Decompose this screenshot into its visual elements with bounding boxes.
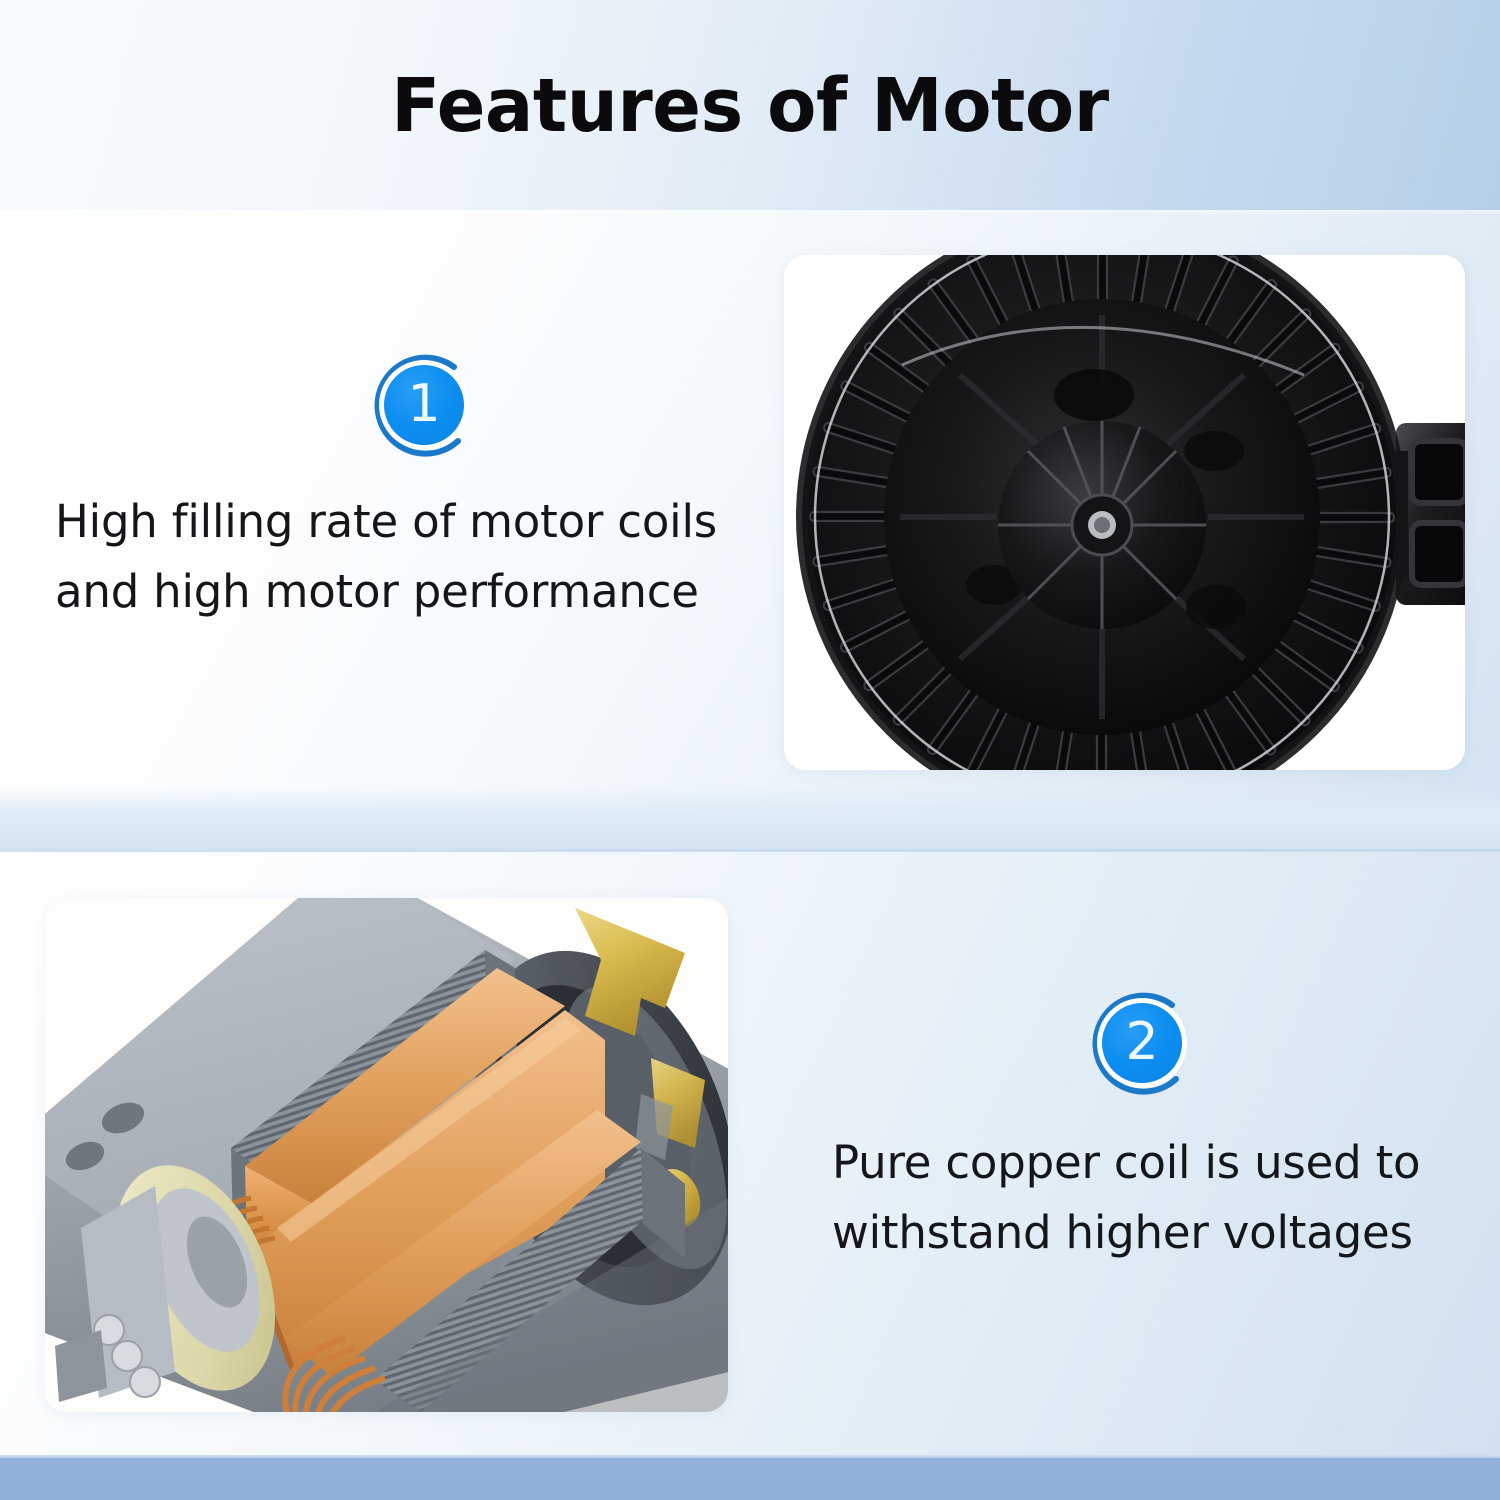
feature-1-image-card [784, 255, 1465, 770]
feature-1-number: 1 [407, 378, 440, 430]
section-1-bottom-band [0, 787, 1500, 851]
motor-cutaway-render [45, 898, 728, 1412]
feature-2-number-badge: 2 [1080, 985, 1198, 1103]
page-title: Features of Motor [391, 63, 1109, 149]
badge-disc: 1 [384, 365, 464, 445]
feature-2-number: 2 [1125, 1016, 1158, 1068]
badge-disc: 2 [1102, 1003, 1182, 1083]
fan-illustration [784, 255, 1465, 770]
footer-band [0, 1458, 1500, 1500]
blower-fan-wheel-photo [784, 255, 1465, 770]
infographic-page: Features of Motor 1 High filling rate of… [0, 0, 1500, 1500]
feature-2-text: Pure copper coil is used to withstand hi… [832, 1128, 1452, 1268]
feature-1-text: High filling rate of motor coils and hig… [55, 487, 755, 627]
fan-hub [998, 421, 1206, 629]
motor-illustration [45, 898, 728, 1412]
header-band: Features of Motor [0, 0, 1500, 212]
feature-1-number-badge: 1 [362, 347, 480, 465]
feature-2-image-card [45, 898, 728, 1412]
